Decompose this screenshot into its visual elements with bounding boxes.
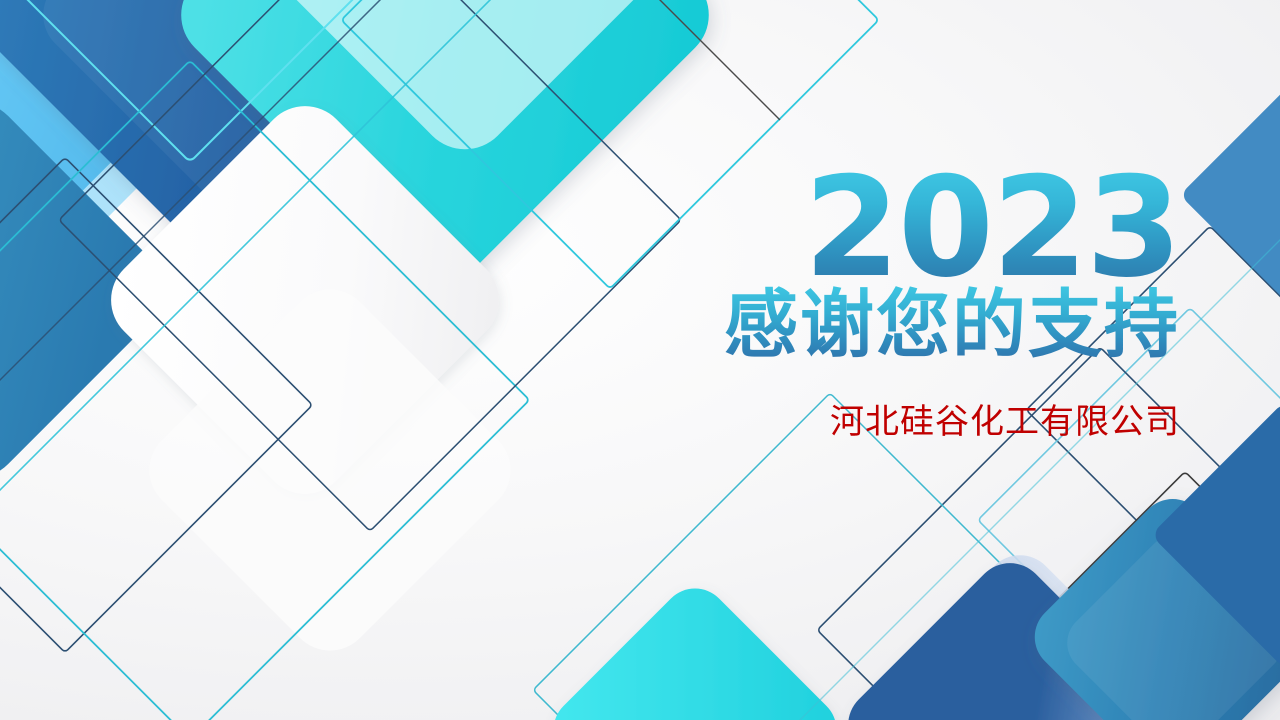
company-name: 河北硅谷化工有限公司 [560, 394, 1180, 443]
year-title: 2023 [560, 165, 1180, 292]
rounded-square-navy-far-right [1180, 75, 1280, 315]
closing-text-block: 2023 感谢您的支持 河北硅谷化工有限公司 [560, 165, 1180, 443]
rounded-square-cyan-bottom [539, 574, 850, 720]
closing-slide: 2023 感谢您的支持 河北硅谷化工有限公司 [0, 0, 1280, 720]
headline-thank-you: 感谢您的支持 [560, 286, 1180, 366]
